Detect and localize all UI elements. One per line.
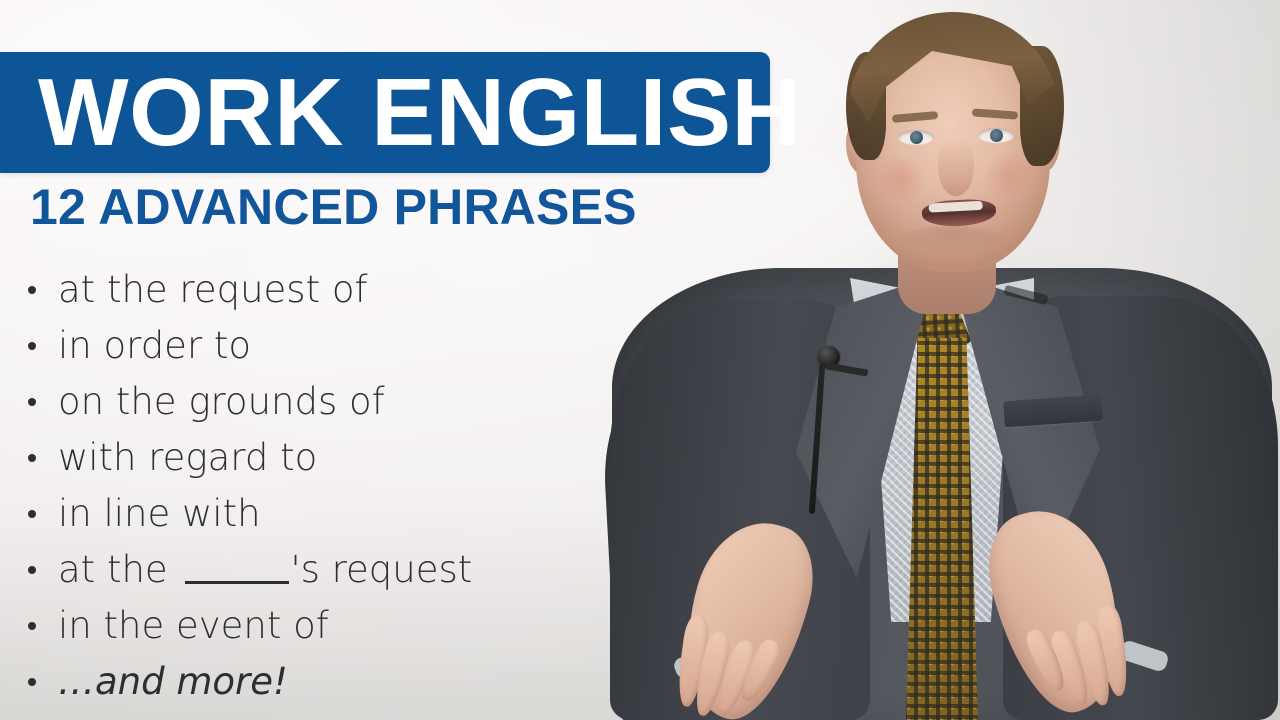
presenter-teeth bbox=[929, 200, 983, 213]
bullet-dot-icon bbox=[28, 342, 36, 350]
presenter-nose bbox=[938, 140, 974, 196]
list-item: on the grounds of bbox=[22, 374, 662, 430]
phrase-text: at the request of bbox=[58, 268, 368, 311]
presenter-right-cheek bbox=[982, 152, 1036, 198]
presenter-right-eye bbox=[978, 128, 1014, 143]
bullet-dot-icon bbox=[28, 678, 36, 686]
list-item: …and more! bbox=[22, 654, 662, 710]
list-item: at the request of bbox=[22, 262, 662, 318]
phrase-text: …and more! bbox=[58, 660, 288, 703]
title-banner: WORK ENGLISH bbox=[0, 52, 770, 173]
page-subtitle: 12 ADVANCED PHRASES bbox=[30, 182, 637, 232]
phrase-text: in line with bbox=[58, 492, 261, 535]
bullet-dot-icon bbox=[28, 566, 36, 574]
left-iris bbox=[910, 131, 923, 144]
right-iris bbox=[990, 129, 1003, 142]
presenter-description: man-in-grey-suit-speaking bbox=[600, 0, 601, 1]
bullet-dot-icon bbox=[28, 398, 36, 406]
video-thumbnail: man-in-grey-suit-speaking bbox=[0, 0, 1280, 720]
list-item: at the 's request bbox=[22, 542, 662, 598]
list-item: in order to bbox=[22, 318, 662, 374]
presenter-left-eye bbox=[898, 130, 934, 145]
phrase-text: in order to bbox=[58, 324, 251, 367]
presenter-left-cheek bbox=[876, 156, 928, 200]
phrase-text: on the grounds of bbox=[58, 380, 385, 423]
bullet-dot-icon bbox=[28, 510, 36, 518]
page-title: WORK ENGLISH bbox=[0, 65, 801, 161]
necktie bbox=[906, 338, 978, 720]
bullet-dot-icon bbox=[28, 622, 36, 630]
phrase-list: at the request ofin order toon the groun… bbox=[22, 262, 662, 710]
list-item: in line with bbox=[22, 486, 662, 542]
list-item: with regard to bbox=[22, 430, 662, 486]
phrase-text: in the event of bbox=[58, 604, 329, 647]
fill-in-blank bbox=[185, 553, 289, 584]
phrase-text: at the bbox=[58, 548, 179, 591]
list-item: in the event of bbox=[22, 598, 662, 654]
phrase-text: with regard to bbox=[58, 436, 317, 479]
phrase-text-suffix: 's request bbox=[290, 548, 472, 591]
bullet-dot-icon bbox=[28, 286, 36, 294]
presenter-chin-shadow bbox=[886, 226, 1020, 266]
bullet-dot-icon bbox=[28, 454, 36, 462]
tie-pattern bbox=[906, 338, 978, 720]
